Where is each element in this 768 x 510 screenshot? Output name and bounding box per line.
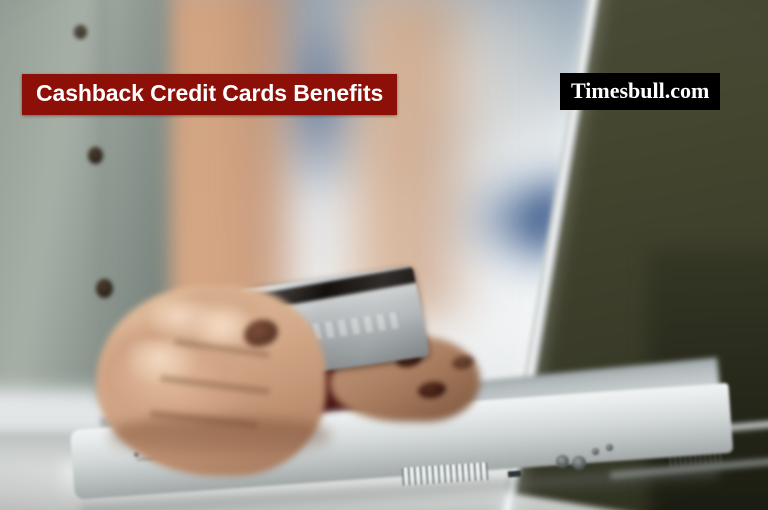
laptop-audio-jack bbox=[556, 455, 569, 468]
shirt-button-icon bbox=[96, 279, 113, 298]
hand-shadow bbox=[110, 418, 330, 454]
shirt-button-icon bbox=[74, 25, 87, 39]
laptop-port-round bbox=[592, 448, 599, 455]
page-title: Cashback Credit Cards Benefits bbox=[36, 81, 383, 106]
laptop-audio-jack bbox=[572, 456, 586, 470]
watermark-label: Timesbull.com bbox=[571, 79, 709, 102]
title-banner: Cashback Credit Cards Benefits bbox=[22, 74, 397, 115]
laptop-port-round bbox=[606, 444, 613, 451]
site-watermark: Timesbull.com bbox=[560, 73, 720, 110]
shirt-button-icon bbox=[88, 147, 103, 164]
article-hero-image: Cashback Credit Cards Benefits Timesbull… bbox=[0, 0, 768, 510]
laptop-port bbox=[508, 471, 521, 478]
